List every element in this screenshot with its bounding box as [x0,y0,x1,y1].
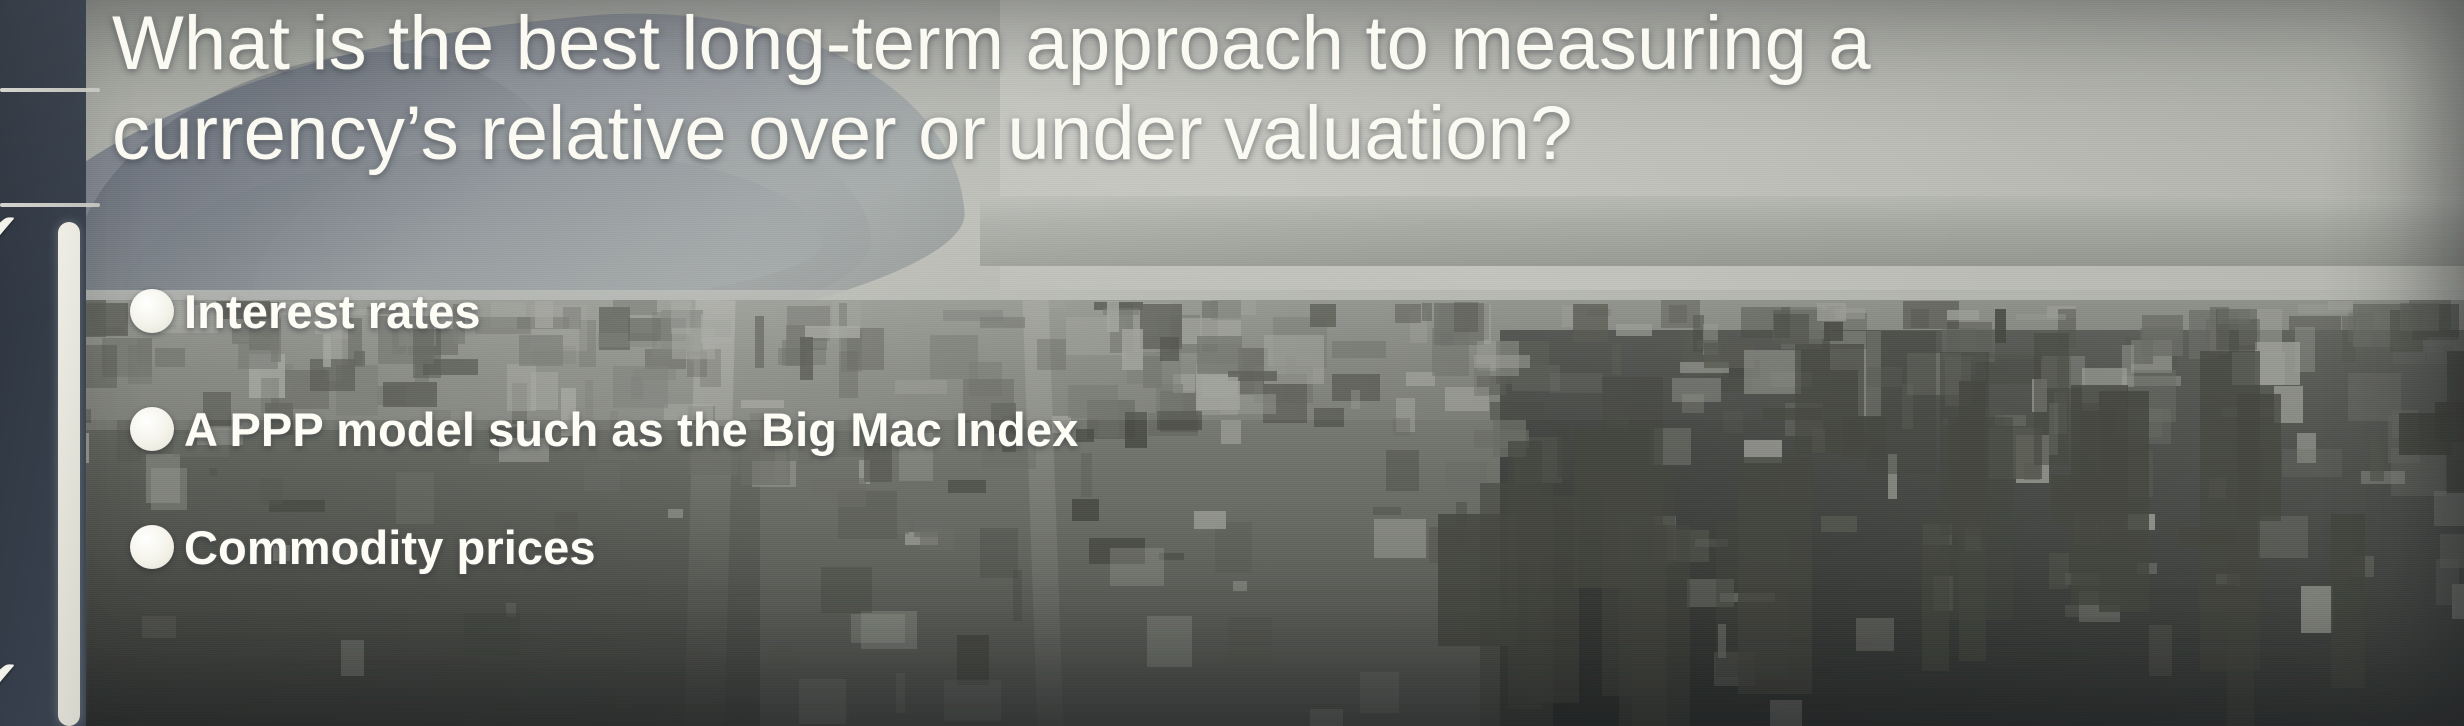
answer-option-ppp-big-mac-index[interactable]: A PPP model such as the Big Mac Index [130,390,2130,468]
answer-option-label: Interest rates [184,284,481,339]
answer-option-commodity-prices[interactable]: Commodity prices [130,508,2130,586]
answer-option-label: Commodity prices [184,520,596,575]
radio-button-icon[interactable] [130,525,174,569]
question-line-1: What is the best long-term approach to m… [112,6,2332,82]
answer-option-interest-rates[interactable]: Interest rates [130,272,2130,350]
answer-options-list: Interest ratesA PPP model such as the Bi… [130,272,2130,626]
question-line-2: currency’s relative over or under valuat… [112,96,2332,172]
quiz-content: What is the best long-term approach to m… [0,0,2464,726]
slide-screen: ✔ ✔ What is the best long-term approach … [0,0,2464,726]
radio-button-icon[interactable] [130,407,174,451]
radio-button-icon[interactable] [130,289,174,333]
answer-option-label: A PPP model such as the Big Mac Index [184,402,1078,457]
question-title: What is the best long-term approach to m… [112,6,2332,172]
